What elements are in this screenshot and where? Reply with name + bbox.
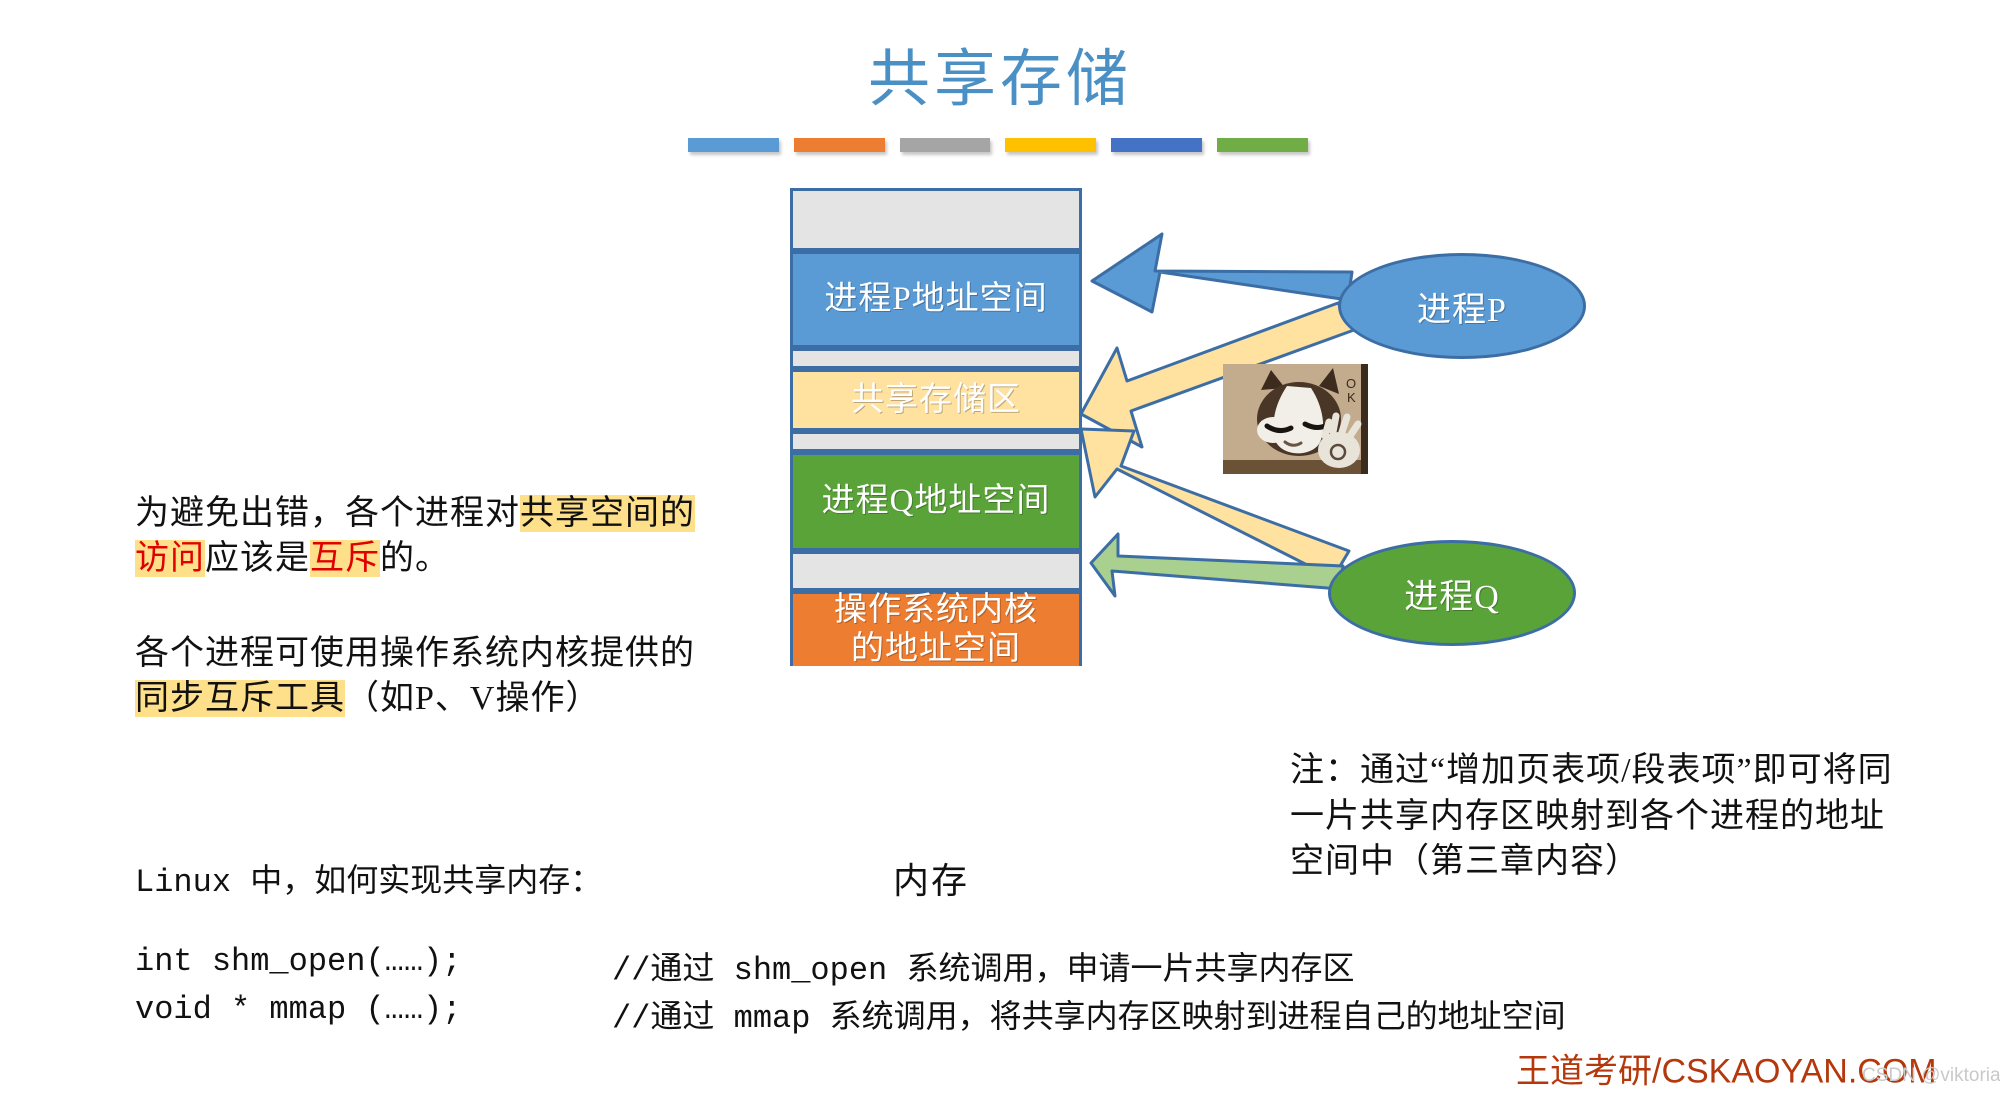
bar-orange — [794, 138, 885, 152]
code-line-mmap: void * mmap (……); — [135, 991, 461, 1028]
bar-yellow — [1005, 138, 1096, 152]
memory-block-process-p-space: 进程P地址空间 — [793, 251, 1079, 348]
code-comment-mmap: //通过 mmap 系统调用，将共享内存区映射到进程自己的地址空间 — [612, 991, 1566, 1037]
arrow-q-to-own-space — [1091, 534, 1343, 596]
paragraph-1-seg-4: 应该是 — [205, 540, 310, 577]
process-p-node: 进程P — [1338, 253, 1586, 359]
paragraph-1-seg-6: 的。 — [380, 540, 450, 577]
memory-block-label: 操作系统内核 的地址空间 — [834, 591, 1038, 669]
paragraph-2-highlight-sync-mutex-tools: 同步互斥工具 — [135, 680, 345, 717]
note-page-table-mapping: 注：通过“增加页表项/段表项”即可将同一片共享内存区映射到各个进程的地址空间中（… — [1290, 748, 1910, 885]
arrow-p-to-own-space — [1092, 234, 1352, 312]
paragraph-1-highlight-access: 访问 — [135, 540, 205, 577]
paragraph-2-seg-1: 各个进程可使用操作系统内核提供的 — [135, 635, 695, 672]
memory-block-gap-1 — [793, 348, 1079, 369]
paragraph-1-highlight-shared-space: 共享空间的 — [520, 495, 695, 532]
process-q-node: 进程Q — [1328, 540, 1576, 646]
process-q-label: 进程Q — [1404, 569, 1500, 618]
cat-meme-image: O K — [1223, 364, 1368, 474]
memory-block-os-kernel-space: 操作系统内核 的地址空间 — [793, 591, 1079, 666]
paragraph-avoid-error: 为避免出错，各个进程对共享空间的访问应该是互斥的。 — [135, 492, 715, 582]
paragraph-1-highlight-mutex: 互斥 — [310, 540, 380, 577]
memory-block-shared-memory-area: 共享存储区 — [793, 369, 1079, 431]
title-underline-bars — [688, 138, 1308, 154]
csdn-watermark: CSDN @viktoriae — [1862, 1065, 2000, 1087]
page-title: 共享存储 — [0, 28, 2000, 118]
memory-diagram: 进程P地址空间 共享存储区 进程Q地址空间 操作系统内核 的地址空间 — [790, 188, 1082, 666]
process-p-label: 进程P — [1417, 282, 1507, 331]
svg-text:K: K — [1347, 390, 1356, 405]
svg-text:O: O — [1346, 376, 1356, 391]
memory-block-gap-2 — [793, 431, 1079, 452]
paragraph-sync-tools: 各个进程可使用操作系统内核提供的同步互斥工具（如P、V操作） — [135, 632, 715, 722]
code-comment-shm-open: //通过 shm_open 系统调用，申请一片共享内存区 — [612, 943, 1354, 989]
linux-intro-line: Linux 中，如何实现共享内存： — [135, 855, 602, 901]
memory-block-label: 进程Q地址空间 — [822, 482, 1051, 521]
memory-block-free-top — [793, 191, 1079, 251]
paragraph-1-seg-1: 为避免出错，各个进程对 — [135, 495, 520, 532]
memory-block-process-q-space: 进程Q地址空间 — [793, 452, 1079, 551]
bar-blue — [688, 138, 779, 152]
memory-block-label: 进程P地址空间 — [824, 280, 1047, 319]
paragraph-2-seg-3: （如P、V操作） — [345, 680, 600, 717]
memory-block-label: 共享存储区 — [851, 381, 1021, 420]
memory-diagram-caption: 内存 — [893, 852, 969, 904]
bar-green — [1217, 138, 1308, 152]
memory-block-gap-3 — [793, 551, 1079, 591]
code-line-shm-open: int shm_open(……); — [135, 943, 461, 980]
bar-indigo — [1111, 138, 1202, 152]
slide-canvas: 共享存储 进程P地址空间 共享存储区 进程Q地址空间 操作系统内核 的地址空间 — [0, 0, 2000, 1118]
bar-gray — [900, 138, 991, 152]
